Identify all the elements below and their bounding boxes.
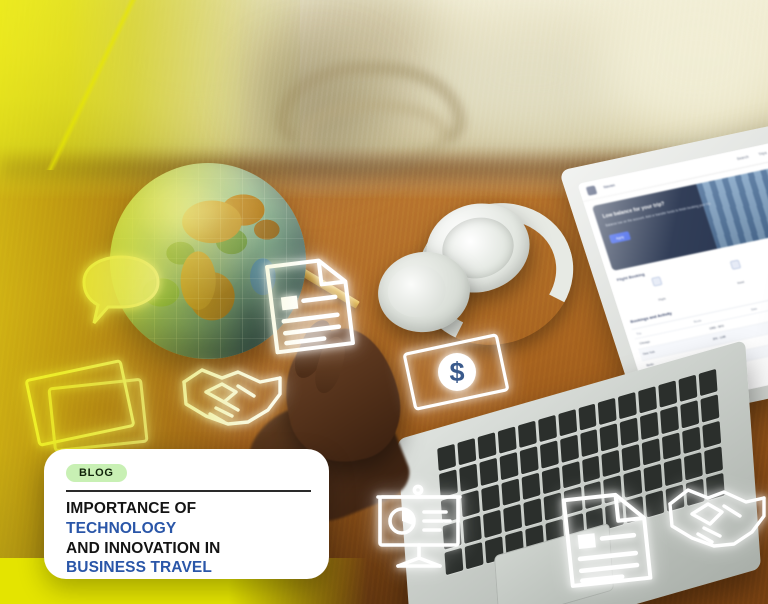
tile-label: Flight [658,296,666,301]
handshake-icon [662,470,768,562]
blog-badge: BLOG [66,464,127,482]
svg-text:$: $ [449,357,464,387]
title-line-3: AND INNOVATION IN [66,539,311,559]
app-logo-icon [586,185,598,195]
title-card: BLOG IMPORTANCE OF TECHNOLOGY AND INNOVA… [44,449,329,579]
nav-item-search[interactable]: Search [736,155,749,161]
col-date: Date [750,296,768,311]
yellow-diagonal-streak [0,0,320,170]
presentation-chart-icon [366,482,474,574]
title-line-2: TECHNOLOGY [66,519,311,539]
document-icon [552,482,662,594]
dollar-coin-icon: $ [401,332,513,414]
plane-icon [650,276,662,286]
promo-apply-button[interactable]: Apply [609,231,631,244]
divider [66,490,311,492]
tile-label: Hotel [737,280,745,285]
title-line-1: IMPORTANCE OF [66,499,311,519]
hero-banner: Navan Search Trips Expenses Reporting Lo… [0,0,768,604]
hotel-icon [729,260,741,270]
title-line-4: BUSINESS TRAVEL [66,558,311,578]
app-brand-name: Navan [603,183,615,189]
nav-item-trips[interactable]: Trips [758,151,768,157]
page-title: IMPORTANCE OF TECHNOLOGY AND INNOVATION … [66,499,311,578]
